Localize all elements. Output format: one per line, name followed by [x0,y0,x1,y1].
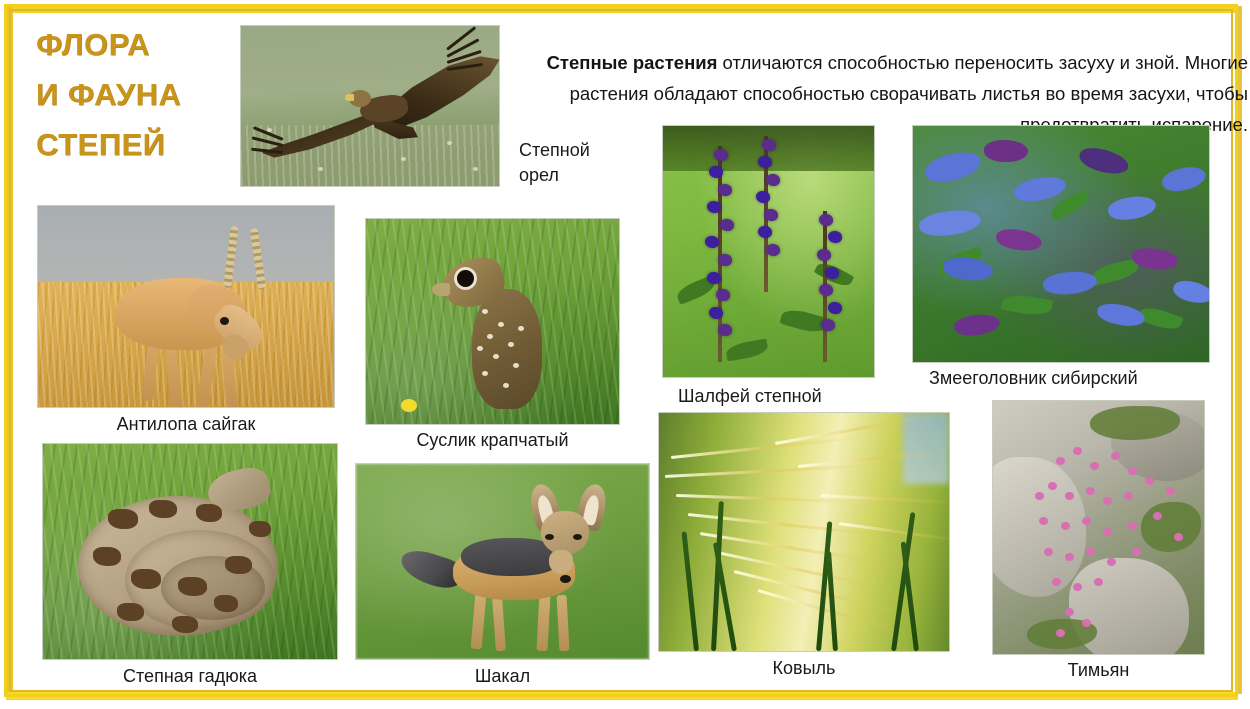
frame-border-bottom [6,692,1238,700]
caption-jackal: Шакал [355,664,650,689]
caption-speckled-ground-squirrel: Суслик крапчатый [365,428,620,453]
caption-feather-grass: Ковыль [658,656,950,681]
speckled-ground-squirrel-image [366,219,619,424]
steppe-eagle-image [241,26,499,186]
caption-steppe-sage: Шалфей степной [678,384,898,409]
steppe-sage-image [663,126,874,377]
photo-feather-grass [658,412,950,652]
slide-canvas: ФЛОРА И ФАУНА СТЕПЕЙ Степные растения от… [0,0,1250,709]
photo-thyme [992,400,1205,655]
photo-saiga-antelope [37,205,335,408]
feather-grass-image [659,413,949,651]
slide-title: ФЛОРА И ФАУНА СТЕПЕЙ [36,20,236,170]
caption-steppe-viper: Степная гадюка [42,664,338,689]
caption-steppe-eagle: Степной орел [519,138,639,188]
title-line-2: И ФАУНА [36,70,236,120]
caption-saiga-antelope: Антилопа сайгак [37,412,335,437]
photo-steppe-eagle [240,25,500,187]
caption-thyme: Тимьян [992,658,1205,683]
steppe-viper-image [43,444,337,659]
caption-siberian-dragonhead: Змееголовник сибирский [929,366,1229,391]
frame-border-left [6,6,13,694]
siberian-dragonhead-image [913,126,1209,362]
frame-border-top [6,6,1238,13]
jackal-image [356,464,649,659]
photo-steppe-sage [662,125,875,378]
intro-lead: Степные растения [547,52,718,73]
photo-jackal [355,463,650,660]
saiga-antelope-image [38,206,334,407]
photo-steppe-viper [42,443,338,660]
title-line-1: ФЛОРА [36,20,236,70]
photo-siberian-dragonhead [912,125,1210,363]
thyme-image [993,401,1204,654]
photo-speckled-ground-squirrel [365,218,620,425]
title-line-3: СТЕПЕЙ [36,120,236,170]
